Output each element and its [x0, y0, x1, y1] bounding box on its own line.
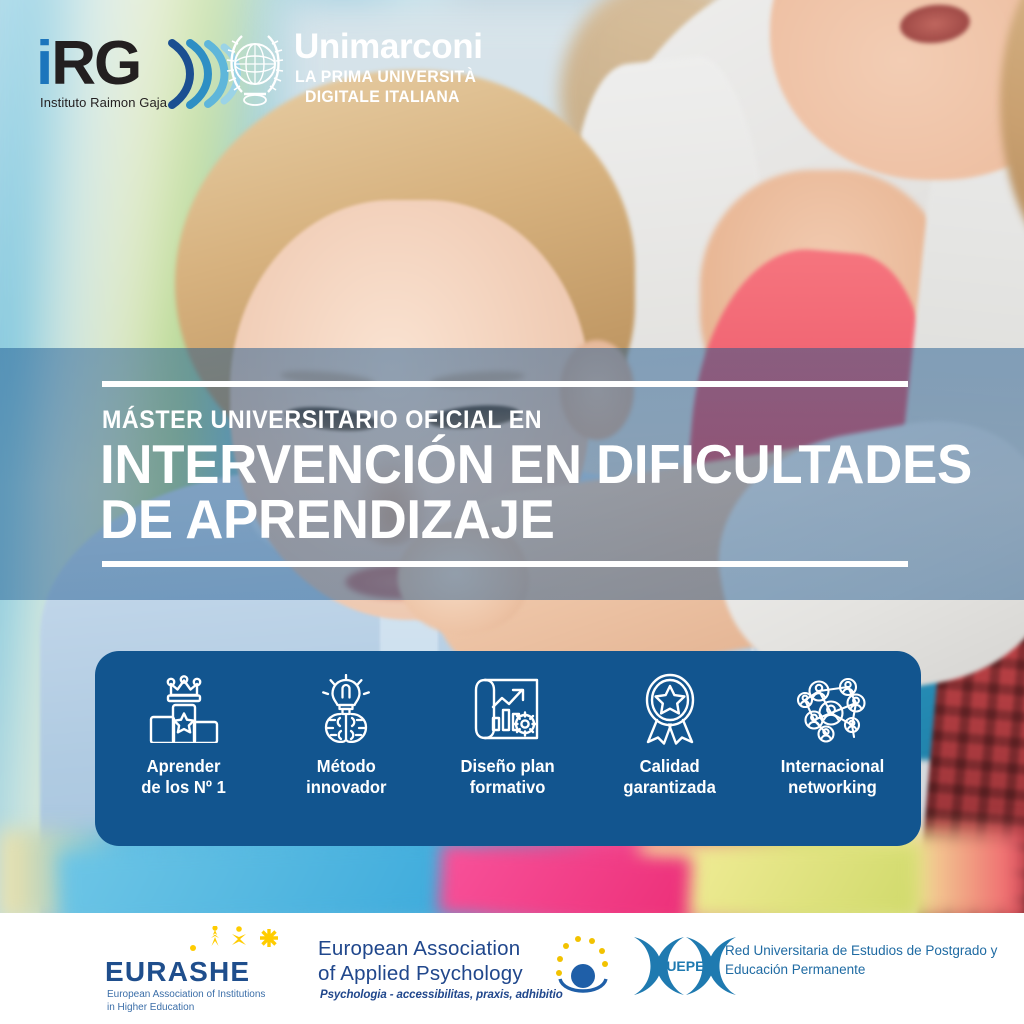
eaap-line-2: of Applied Psychology	[318, 962, 523, 986]
page-title-line-2: DE APRENDIZAJE	[100, 491, 555, 548]
feature-label: Aprender de los Nº 1	[142, 756, 227, 798]
eurashe-logo: EURASHE European Association of Institut…	[105, 928, 325, 1008]
title-rule-top	[102, 381, 908, 387]
eurashe-subtitle: European Association of Institutions in …	[107, 988, 265, 1014]
page-title-line-1: INTERVENCIÓN EN DIFICULTADES	[100, 436, 972, 493]
eyebrow-text: MÁSTER UNIVERSITARIO OFICIAL EN	[102, 406, 542, 435]
desk-paper-pink	[438, 844, 691, 913]
eaap-line-1: European Association	[318, 937, 520, 961]
unimarconi-tagline-1: LA PRIMA UNIVERSITÀ	[295, 68, 476, 87]
ruepep-description: Red Universitaria de Estudios de Postgra…	[725, 941, 997, 979]
eurashe-wordmark: EURASHE	[105, 956, 250, 988]
feature-label: Diseño plan formativo	[461, 756, 555, 798]
irg-letters-rg: RG	[51, 29, 140, 98]
feature-label: Internacional networking	[780, 756, 883, 798]
ruepep-mark-label: RUEPEP	[656, 958, 714, 974]
unimarconi-name: Unimarconi	[294, 28, 483, 66]
award-medal-star-icon	[635, 674, 705, 744]
brain-lightbulb-icon	[311, 674, 381, 744]
feature-item-calidad[interactable]: Calidad garantizada	[595, 674, 745, 824]
feature-item-aprender[interactable]: Aprender de los Nº 1	[109, 674, 259, 824]
eaap-tagline: Psychologia - accessibilitas, praxis, ad…	[320, 989, 563, 1001]
title-band: MÁSTER UNIVERSITARIO OFICIAL EN INTERVEN…	[0, 348, 1024, 600]
blueprint-chart-gear-icon	[469, 674, 547, 744]
title-rule-bottom	[102, 561, 908, 567]
irg-letter-i: i	[36, 29, 51, 98]
feature-item-diseno[interactable]: Diseño plan formativo	[433, 674, 583, 824]
feature-label: Método innovador	[306, 756, 386, 798]
promo-poster: iRG Instituto Raimon Gaja Unimarconi LA …	[0, 0, 1024, 1024]
feature-bar: Aprender de los Nº 1	[95, 651, 921, 846]
podium-crown-icon	[146, 674, 222, 744]
eurashe-stars-icon	[187, 926, 307, 958]
feature-item-metodo[interactable]: Método innovador	[271, 674, 421, 824]
feature-label: Calidad garantizada	[624, 756, 716, 798]
irg-subtitle: Instituto Raimon Gaja	[40, 95, 167, 110]
eaap-logo: European Association of Applied Psycholo…	[318, 931, 618, 1009]
feature-item-networking[interactable]: Internacional networking	[757, 674, 907, 824]
ruepep-x-mark-icon: RUEPEP	[630, 935, 740, 997]
irg-logo: iRG Instituto Raimon Gaja	[36, 33, 226, 113]
unimarconi-tagline-2: DIGITALE ITALIANA	[305, 88, 460, 107]
footer-logos: EURASHE European Association of Institut…	[0, 913, 1024, 1024]
eu-stars-person-icon	[530, 933, 620, 1003]
irg-wordmark: iRG	[36, 33, 140, 95]
people-network-icon	[792, 674, 872, 744]
unimarconi-logo: Unimarconi LA PRIMA UNIVERSITÀ DIGITALE …	[222, 26, 472, 116]
laurel-globe-crest-icon	[222, 30, 288, 108]
